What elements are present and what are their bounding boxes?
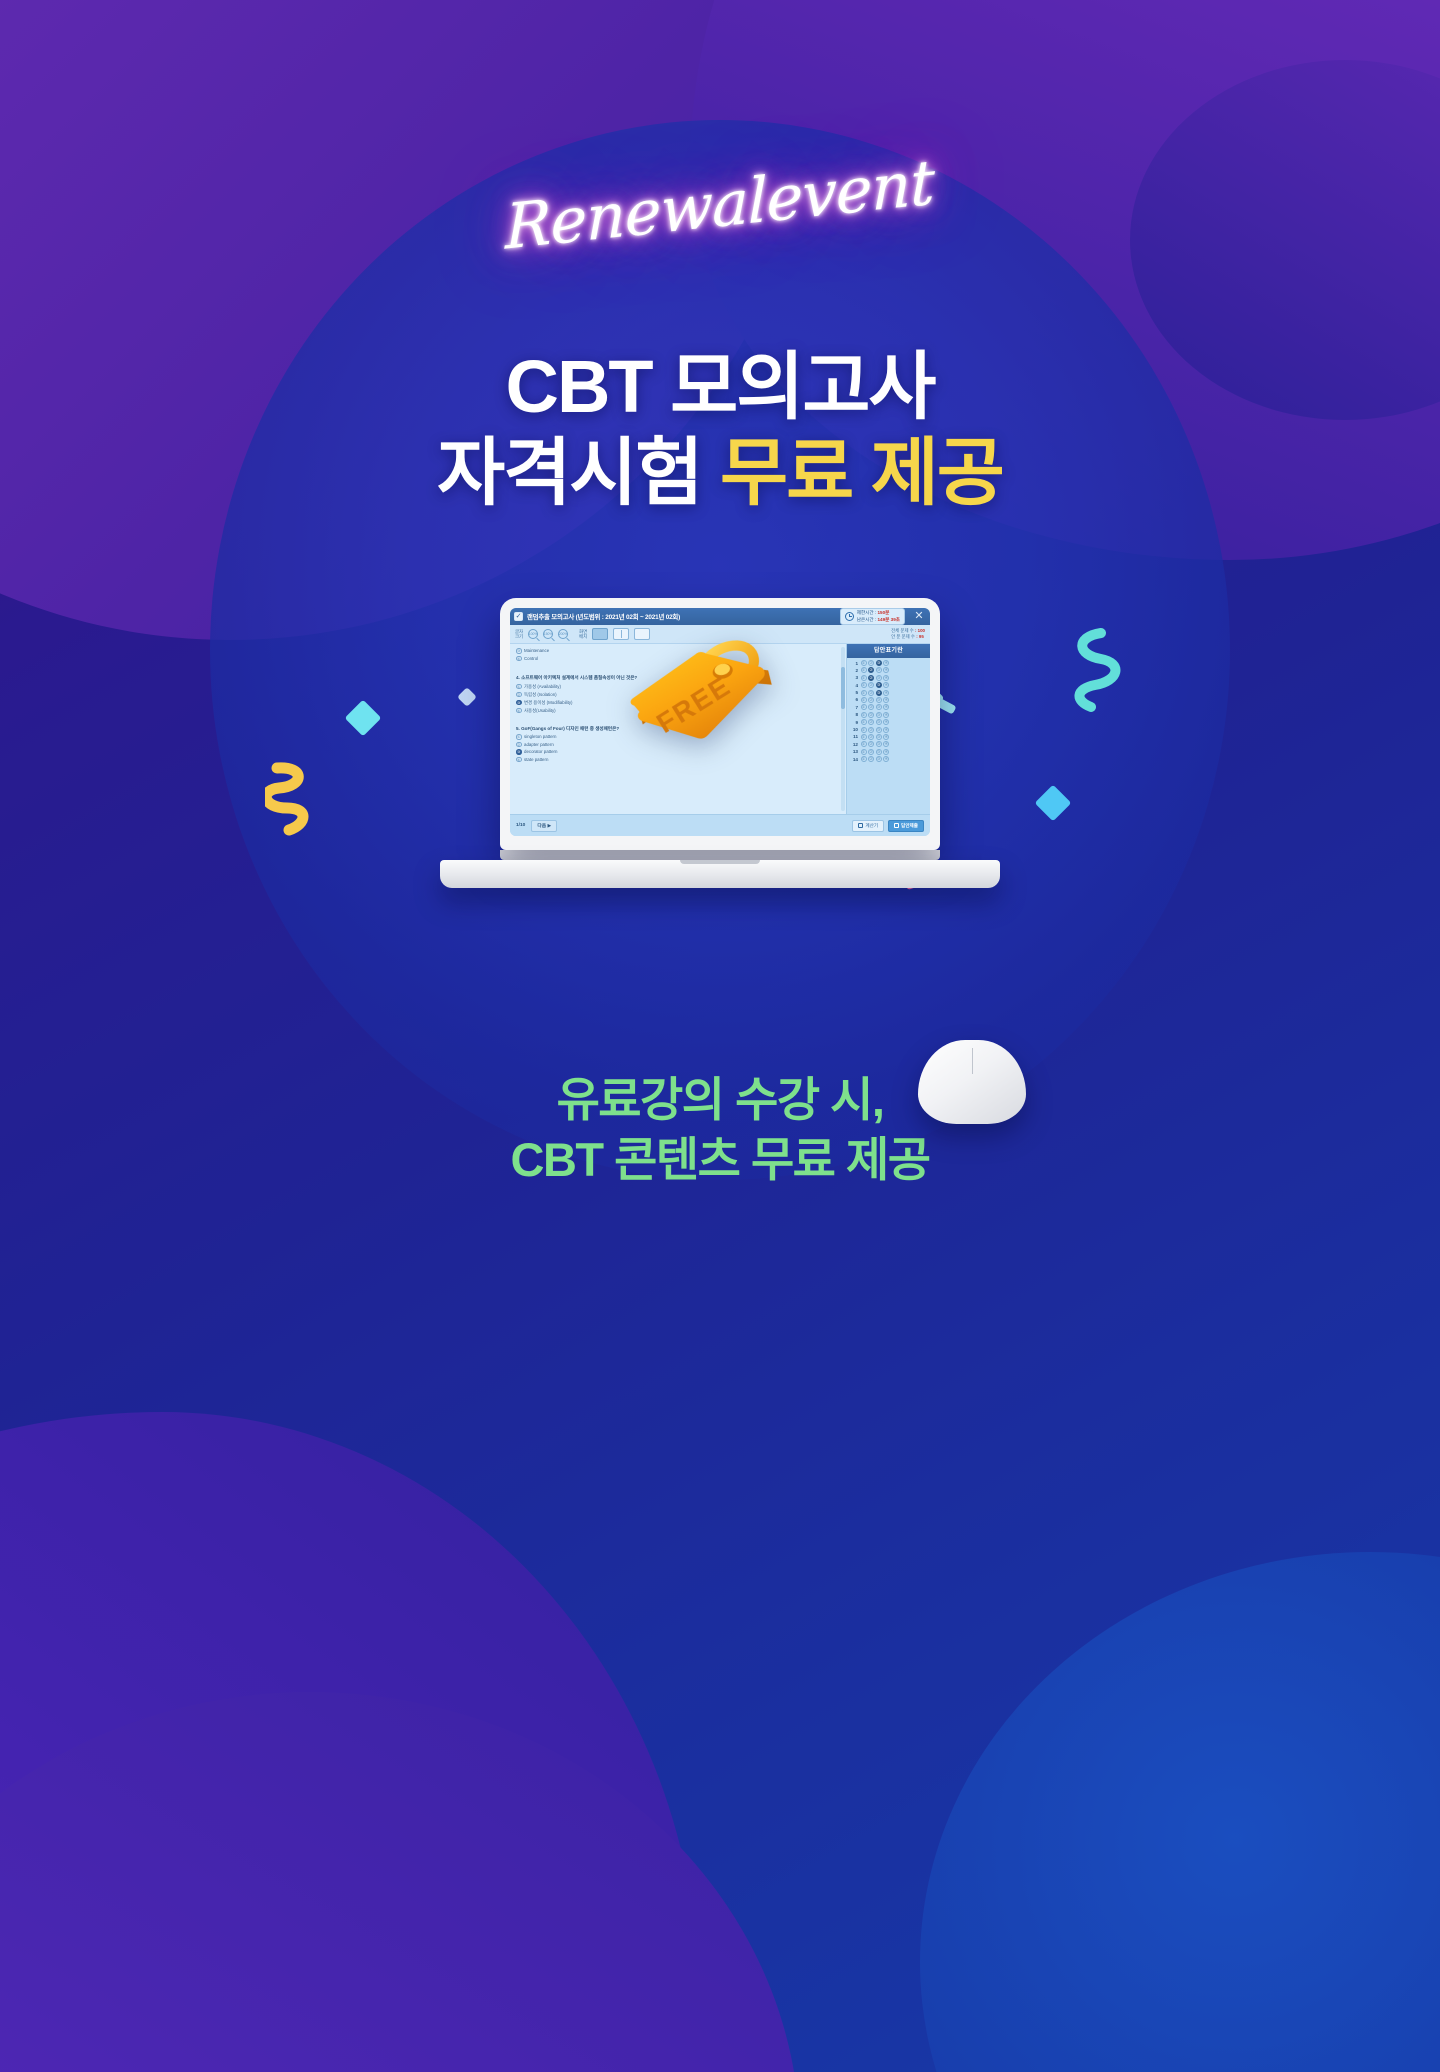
- answer-row-options: ①②③④: [861, 660, 890, 666]
- answer-bubble[interactable]: ④: [883, 756, 889, 762]
- answer-row[interactable]: 6①②③④: [850, 697, 927, 703]
- option-marker-icon: ②: [516, 742, 522, 748]
- answer-bubble[interactable]: ①: [861, 690, 867, 696]
- question-scrollbar[interactable]: [841, 647, 845, 811]
- total-questions-value: : 100: [915, 628, 925, 633]
- answer-row-number: 3: [850, 675, 858, 680]
- answer-row-number: 13: [850, 749, 858, 754]
- answer-row-number: 12: [850, 742, 858, 747]
- answer-bubble[interactable]: ④: [883, 712, 889, 718]
- laptop-lid: ✓ 랜덤추출 모의고사 (년도범위 : 2021년 02회 ~ 2021년 02…: [500, 598, 940, 850]
- answer-row-number: 14: [850, 757, 858, 762]
- answer-bubble[interactable]: ④: [883, 749, 889, 755]
- answer-row[interactable]: 2①②③④: [850, 667, 927, 673]
- answer-bubble[interactable]: ③: [876, 690, 882, 696]
- answer-bubble[interactable]: ②: [868, 667, 874, 673]
- unanswered-row: 안 푼 문제 수 : 95: [891, 634, 925, 640]
- exam-timer: 제한시간 : 150분 남은시간 : 149분 39초: [840, 608, 905, 624]
- footer-actions: 계산기 답안제출: [852, 820, 924, 832]
- answer-bubble[interactable]: ③: [876, 682, 882, 688]
- laptop-hinge: [500, 850, 940, 860]
- background-blob-bottom-right: [920, 1552, 1440, 2072]
- answer-row[interactable]: 3①②③④: [850, 675, 927, 681]
- answer-bubble[interactable]: ①: [861, 741, 867, 747]
- option-marker-icon: ④: [516, 656, 522, 662]
- option-marker-icon: ③: [516, 749, 522, 755]
- answer-bubble[interactable]: ①: [861, 749, 867, 755]
- remain-time-label: 남은시간 :: [857, 617, 876, 622]
- answer-row-options: ①②③④: [861, 667, 890, 673]
- poster-canvas: Renewalevent CBT 모의고사 자격시험 무료 제공: [0, 0, 1440, 2072]
- answer-bubble[interactable]: ②: [868, 675, 874, 681]
- answer-bubble[interactable]: ④: [883, 734, 889, 740]
- answer-bubble[interactable]: ③: [876, 704, 882, 710]
- layout-single-button[interactable]: [592, 628, 608, 640]
- subtitle-line-1: 유료강의 수강 시,: [0, 1070, 1440, 1130]
- answer-sheet-panel: 답안표기란 1①②③④2①②③④3①②③④4①②③④5①②③④6①②③④7①②③…: [846, 644, 930, 814]
- answer-bubble[interactable]: ③: [876, 697, 882, 703]
- answer-bubble[interactable]: ②: [868, 712, 874, 718]
- headline-line-2-highlight: 무료 제공: [720, 431, 1003, 514]
- zoom-150-label: 150%: [544, 632, 553, 636]
- answer-bubble[interactable]: ②: [868, 690, 874, 696]
- answer-bubble[interactable]: ①: [861, 682, 867, 688]
- answer-row-options: ①②③④: [861, 690, 890, 696]
- answer-row-number: 10: [850, 727, 858, 732]
- option-label: Maintenance: [524, 648, 549, 653]
- option-label: state pattern: [524, 757, 548, 762]
- answer-bubble[interactable]: ①: [861, 704, 867, 710]
- answer-bubble[interactable]: ③: [876, 741, 882, 747]
- layout-wide-button[interactable]: [634, 628, 650, 640]
- option-marker-icon: ③: [516, 700, 522, 706]
- subtitle-line-2: CBT 콘텐츠 무료 제공: [0, 1130, 1440, 1190]
- close-icon[interactable]: ✕: [912, 611, 926, 622]
- confetti-diamond-3: [1035, 785, 1072, 822]
- answer-bubble[interactable]: ③: [876, 719, 882, 725]
- headline-line-1: CBT 모의고사: [0, 348, 1440, 426]
- unanswered-label: 안 푼 문제 수: [891, 634, 915, 639]
- clock-icon: [845, 612, 854, 621]
- answer-row[interactable]: 1①②③④: [850, 660, 927, 666]
- answer-row[interactable]: 4①②③④: [850, 682, 927, 688]
- layout-split-button[interactable]: [613, 628, 629, 640]
- eyebrow-script-text: Renewalevent: [506, 145, 935, 263]
- answer-bubble[interactable]: ③: [876, 712, 882, 718]
- answer-sheet-rows: 1①②③④2①②③④3①②③④4①②③④5①②③④6①②③④7①②③④8①②③④…: [847, 658, 930, 814]
- remain-time-value: 149분 39초: [877, 617, 900, 622]
- answer-bubble[interactable]: ②: [868, 756, 874, 762]
- laptop-mockup: ✓ 랜덤추출 모의고사 (년도범위 : 2021년 02회 ~ 2021년 02…: [440, 598, 1000, 888]
- answer-bubble[interactable]: ①: [861, 712, 867, 718]
- background-blob-top-left: [0, 0, 820, 640]
- zoom-100-button[interactable]: 100%: [528, 629, 538, 639]
- answer-bubble[interactable]: ④: [883, 667, 889, 673]
- answer-bubble[interactable]: ①: [861, 667, 867, 673]
- option-label: Control: [524, 656, 538, 661]
- calculator-button[interactable]: 계산기: [852, 820, 884, 832]
- answer-row-number: 7: [850, 705, 858, 710]
- answer-row[interactable]: 8①②③④: [850, 712, 927, 718]
- answer-row-number: 8: [850, 712, 858, 717]
- zoom-200-button[interactable]: 200%: [558, 629, 568, 639]
- laptop-base: [440, 860, 1000, 888]
- option-label: 변경 용이성 (Modifiability): [524, 700, 573, 706]
- font-size-label: 글자 크기: [515, 629, 523, 639]
- answer-bubble[interactable]: ③: [876, 675, 882, 681]
- exam-title: 랜덤추출 모의고사 (년도범위 : 2021년 02회 ~ 2021년 02회): [527, 612, 680, 621]
- limit-time-label: 제한시간 :: [857, 610, 876, 615]
- answer-bubble[interactable]: ④: [883, 704, 889, 710]
- answer-bubble[interactable]: ②: [868, 727, 874, 733]
- option-marker-icon: ②: [516, 692, 522, 698]
- confetti-squiggle-yellow: [265, 760, 335, 840]
- font-size-label-line2: 크기: [515, 634, 523, 639]
- answer-bubble[interactable]: ④: [883, 697, 889, 703]
- answer-row[interactable]: 5①②③④: [850, 690, 927, 696]
- answer-row[interactable]: 9①②③④: [850, 719, 927, 725]
- option-marker-icon: ④: [516, 708, 522, 714]
- cbt-app-screen: ✓ 랜덤추출 모의고사 (년도범위 : 2021년 02회 ~ 2021년 02…: [510, 608, 930, 836]
- answer-bubble[interactable]: ③: [876, 749, 882, 755]
- answer-bubble[interactable]: ③: [876, 756, 882, 762]
- answer-bubble[interactable]: ④: [883, 660, 889, 666]
- answer-row-number: 4: [850, 683, 858, 688]
- cbt-titlebar: ✓ 랜덤추출 모의고사 (년도범위 : 2021년 02회 ~ 2021년 02…: [510, 608, 930, 625]
- answer-row-number: 5: [850, 690, 858, 695]
- background-blob-bottom-left: [0, 1412, 700, 2072]
- answer-row[interactable]: 14①②③④: [850, 756, 927, 762]
- answer-bubble[interactable]: ①: [861, 675, 867, 681]
- answer-bubble[interactable]: ①: [861, 734, 867, 740]
- answer-bubble[interactable]: ②: [868, 660, 874, 666]
- answer-bubble[interactable]: ①: [861, 719, 867, 725]
- background-blob-bottom-left-2: [0, 1692, 800, 2072]
- answer-bubble[interactable]: ②: [868, 734, 874, 740]
- option-marker-icon: ①: [516, 684, 522, 690]
- answer-row-number: 2: [850, 668, 858, 673]
- answer-row[interactable]: 12①②③④: [850, 741, 927, 747]
- answer-row-options: ①②③④: [861, 712, 890, 718]
- answer-bubble[interactable]: ②: [868, 697, 874, 703]
- confetti-squiggle-cyan: [1055, 625, 1125, 715]
- option-marker-icon: ③: [516, 648, 522, 654]
- layout-label-line2: 배치: [579, 634, 587, 639]
- option-marker-icon: ④: [516, 757, 522, 763]
- answer-bubble[interactable]: ③: [876, 660, 882, 666]
- answer-bubble[interactable]: ③: [876, 734, 882, 740]
- answer-row-options: ①②③④: [861, 734, 890, 740]
- answer-bubble[interactable]: ②: [868, 682, 874, 688]
- zoom-150-button[interactable]: 150%: [543, 629, 553, 639]
- answer-row[interactable]: 11①②③④: [850, 734, 927, 740]
- submit-label: 답안제출: [901, 823, 918, 829]
- answer-bubble[interactable]: ②: [868, 749, 874, 755]
- answer-row-number: 6: [850, 697, 858, 702]
- option-marker-icon: ①: [516, 734, 522, 740]
- unanswered-value: : 95: [916, 634, 924, 639]
- option-label: 사용성(Usability): [524, 708, 556, 714]
- answer-row-number: 9: [850, 720, 858, 725]
- subtitle-block: 유료강의 수강 시, CBT 콘텐츠 무료 제공: [0, 1070, 1440, 1190]
- exam-checkbox-icon[interactable]: ✓: [514, 612, 523, 621]
- page-title: CBT 모의고사 자격시험 무료 제공: [0, 348, 1440, 513]
- answer-bubble[interactable]: ③: [876, 727, 882, 733]
- question-counters: 전체 문제 수 : 100 안 푼 문제 수 : 95: [891, 628, 925, 640]
- answer-row-options: ①②③④: [861, 682, 890, 688]
- answer-row-options: ①②③④: [861, 749, 890, 755]
- computer-mouse: [918, 1040, 1026, 1124]
- answer-row[interactable]: 10①②③④: [850, 727, 927, 733]
- eyebrow-script-wrap: Renewalevent: [0, 168, 1440, 241]
- answer-row-number: 11: [850, 734, 858, 739]
- answer-bubble[interactable]: ①: [861, 756, 867, 762]
- answer-sheet-title: 답안표기란: [847, 644, 930, 658]
- zoom-200-label: 200%: [559, 632, 568, 636]
- answer-row-options: ①②③④: [861, 704, 890, 710]
- timer-text-block: 제한시간 : 150분 남은시간 : 149분 39초: [857, 610, 900, 622]
- answer-bubble[interactable]: ②: [868, 719, 874, 725]
- total-questions-label: 전체 문제 수: [891, 628, 914, 633]
- answer-row-options: ①②③④: [861, 756, 890, 762]
- zoom-100-label: 100%: [529, 632, 538, 636]
- answer-row-options: ①②③④: [861, 741, 890, 747]
- option-label: decorator pattern: [524, 749, 557, 754]
- submit-answers-button[interactable]: 답안제출: [888, 820, 924, 832]
- answer-bubble[interactable]: ①: [861, 697, 867, 703]
- cbt-footer: 1/10 다음 ▶ 계산기 답안제출: [510, 814, 930, 836]
- answer-bubble[interactable]: ③: [876, 667, 882, 673]
- calculator-icon: [858, 823, 863, 828]
- answer-bubble[interactable]: ④: [883, 741, 889, 747]
- answer-bubble[interactable]: ①: [861, 727, 867, 733]
- option-label: 독립성 (Isolation): [524, 692, 557, 698]
- headline-line-2-plain: 자격시험: [437, 431, 720, 514]
- answer-row[interactable]: 7①②③④: [850, 704, 927, 710]
- answer-bubble[interactable]: ④: [883, 690, 889, 696]
- confetti-diamond-1: [345, 700, 382, 737]
- answer-row-options: ①②③④: [861, 697, 890, 703]
- answer-row[interactable]: 13①②③④: [850, 749, 927, 755]
- answer-bubble[interactable]: ④: [883, 682, 889, 688]
- limit-time-value: 150분: [877, 610, 889, 615]
- answer-bubble[interactable]: ④: [883, 719, 889, 725]
- headline-line-2: 자격시험 무료 제공: [0, 434, 1440, 512]
- option-label: 가용성 (Availability): [524, 684, 561, 690]
- option-label: adapter pattern: [524, 742, 554, 747]
- calculator-label: 계산기: [865, 823, 878, 829]
- answer-bubble[interactable]: ④: [883, 727, 889, 733]
- remain-time-row: 남은시간 : 149분 39초: [857, 617, 900, 623]
- option-label: singleton pattern: [524, 734, 556, 739]
- answer-row-options: ①②③④: [861, 727, 890, 733]
- answer-row-options: ①②③④: [861, 719, 890, 725]
- answer-bubble[interactable]: ④: [883, 675, 889, 681]
- layout-label: 화면 배치: [579, 629, 587, 639]
- answer-row-number: 1: [850, 661, 858, 666]
- answer-row-options: ①②③④: [861, 675, 890, 681]
- answer-bubble[interactable]: ②: [868, 704, 874, 710]
- page-indicator: 1/10: [516, 823, 525, 828]
- answer-bubble[interactable]: ②: [868, 741, 874, 747]
- submit-icon: [894, 823, 899, 828]
- answer-bubble[interactable]: ①: [861, 660, 867, 666]
- next-button[interactable]: 다음 ▶: [531, 820, 557, 832]
